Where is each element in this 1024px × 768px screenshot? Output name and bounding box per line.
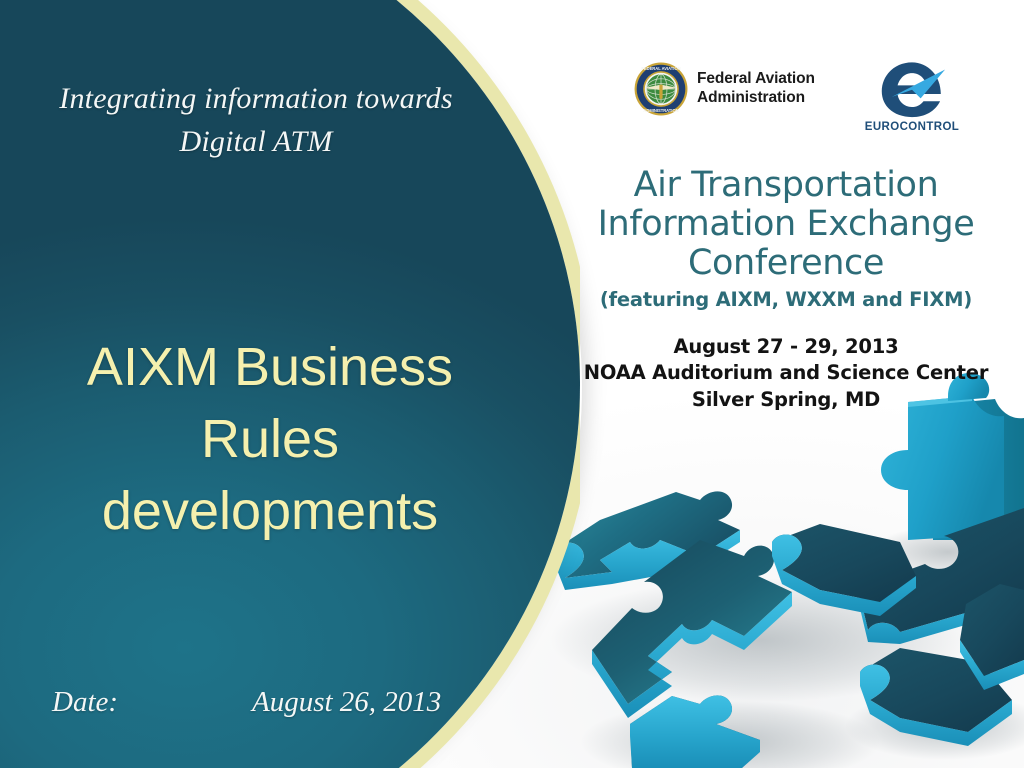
faa-logo: FEDERAL AVIATION ADMINISTRATION Federal … xyxy=(634,62,815,116)
slide-header: Integrating information towards Digital … xyxy=(36,78,476,163)
faa-seal-icon: FEDERAL AVIATION ADMINISTRATION xyxy=(634,62,688,116)
svg-text:ADMINISTRATION: ADMINISTRATION xyxy=(643,108,678,113)
conference-subtitle: (featuring AIXM, WXXM and FIXM) xyxy=(548,288,1024,311)
conference-title-line-3: Conference xyxy=(548,244,1024,283)
conference-details: August 27 - 29, 2013 NOAA Auditorium and… xyxy=(548,334,1024,413)
conference-title-line-1: Air Transportation xyxy=(548,166,1024,205)
conference-title: Air Transportation Information Exchange … xyxy=(548,166,1024,284)
conference-location: Silver Spring, MD xyxy=(548,387,1024,413)
conference-title-line-2: Information Exchange xyxy=(548,205,1024,244)
eurocontrol-wordmark: EUROCONTROL xyxy=(852,121,972,133)
faa-wordmark: Federal Aviation Administration xyxy=(697,70,815,108)
logo-row: FEDERAL AVIATION ADMINISTRATION Federal … xyxy=(634,58,984,150)
eurocontrol-mark-icon xyxy=(876,58,948,120)
presentation-slide: Integrating information towards Digital … xyxy=(0,0,1024,768)
conference-dates: August 27 - 29, 2013 xyxy=(548,334,1024,360)
conference-venue: NOAA Auditorium and Science Center xyxy=(548,360,1024,386)
date-label: Date: xyxy=(52,686,252,719)
eurocontrol-logo: EUROCONTROL xyxy=(852,58,972,133)
conference-heading: Air Transportation Information Exchange … xyxy=(548,166,1024,311)
date-value: August 26, 2013 xyxy=(252,686,441,719)
date-row: Date:August 26, 2013 xyxy=(52,686,472,719)
svg-text:FEDERAL AVIATION: FEDERAL AVIATION xyxy=(641,66,680,71)
slide-title: AIXM Business Rules developments xyxy=(44,332,496,547)
